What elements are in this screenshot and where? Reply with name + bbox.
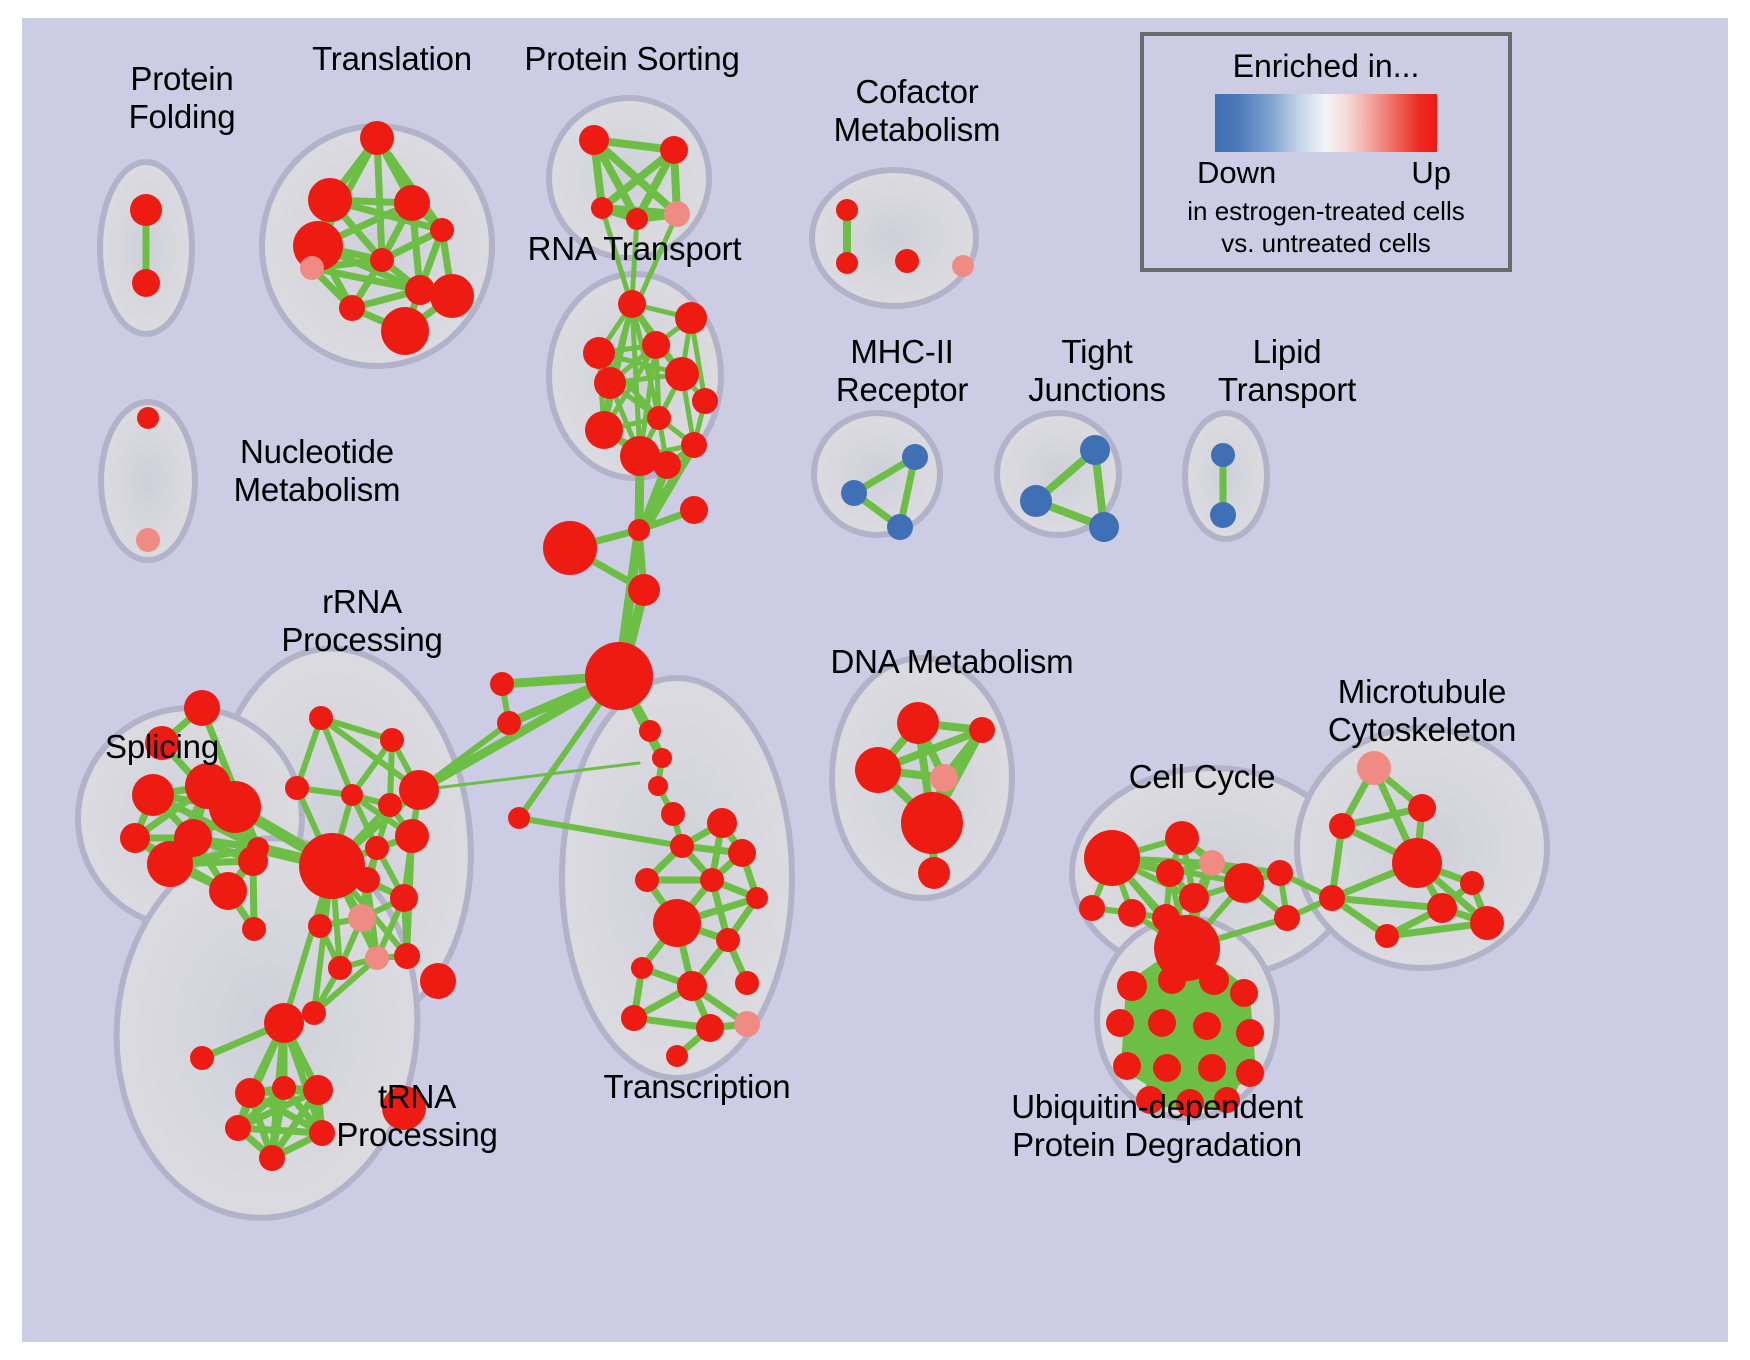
- node: [242, 917, 266, 941]
- node: [1084, 830, 1140, 886]
- node: [887, 514, 913, 540]
- cluster-label-rrna-processing: rRNA Processing: [252, 583, 472, 659]
- node: [639, 720, 661, 742]
- node: [395, 819, 429, 853]
- node: [677, 971, 707, 1001]
- node: [497, 711, 521, 735]
- node: [895, 249, 919, 273]
- node: [1179, 883, 1209, 913]
- node: [666, 1045, 688, 1067]
- node: [897, 702, 939, 744]
- node: [299, 833, 365, 899]
- legend-title: Enriched in...: [1144, 48, 1508, 84]
- cluster-label-translation: Translation: [277, 40, 507, 78]
- node: [648, 776, 668, 796]
- hull-cofactor-metabolism: [812, 170, 976, 306]
- node: [647, 406, 671, 430]
- cluster-label-ubiquitin: Ubiquitin-dependent Protein Degradation: [977, 1088, 1337, 1164]
- node: [1080, 435, 1110, 465]
- cluster-label-microtubule: Microtubule Cytoskeleton: [1297, 673, 1547, 749]
- legend-color-bar: [1215, 94, 1437, 152]
- node: [132, 774, 174, 816]
- node: [1470, 906, 1504, 940]
- legend-caption-line1: in estrogen-treated cells: [1144, 196, 1508, 226]
- node: [692, 388, 718, 414]
- node: [594, 367, 626, 399]
- node: [626, 208, 648, 230]
- node: [855, 747, 901, 793]
- node: [147, 841, 193, 887]
- node: [665, 357, 699, 391]
- legend-low-label: Down: [1197, 154, 1276, 192]
- node: [136, 528, 160, 552]
- node: [430, 218, 454, 242]
- cluster-label-cofactor-metabolism: Cofactor Metabolism: [792, 73, 1042, 149]
- node: [184, 690, 220, 726]
- node: [642, 331, 670, 359]
- node: [225, 1115, 251, 1141]
- cluster-label-lipid-transport: Lipid Transport: [1187, 333, 1387, 409]
- node: [399, 770, 439, 810]
- node: [365, 836, 389, 860]
- cluster-label-mhc-ii-receptor: MHC-II Receptor: [797, 333, 1007, 409]
- node: [621, 1005, 647, 1031]
- node: [1375, 924, 1399, 948]
- node: [583, 337, 615, 369]
- node: [660, 136, 688, 164]
- node: [132, 269, 160, 297]
- node: [969, 717, 995, 743]
- node: [370, 248, 394, 272]
- node: [130, 194, 162, 226]
- node: [394, 943, 420, 969]
- node: [1230, 979, 1258, 1007]
- node: [716, 928, 740, 952]
- node: [591, 197, 613, 219]
- node: [670, 834, 694, 858]
- node: [1118, 899, 1146, 927]
- cluster-label-protein-folding: Protein Folding: [82, 60, 282, 136]
- cluster-label-cell-cycle: Cell Cycle: [1097, 758, 1307, 796]
- node: [209, 781, 261, 833]
- node: [675, 302, 707, 334]
- node: [354, 867, 380, 893]
- node: [543, 521, 597, 575]
- node: [1158, 966, 1186, 994]
- node: [1408, 794, 1436, 822]
- node: [1319, 885, 1345, 911]
- node: [508, 807, 530, 829]
- node: [285, 776, 309, 800]
- node: [328, 956, 352, 980]
- node: [360, 121, 394, 155]
- node: [1329, 813, 1355, 839]
- node: [302, 1001, 326, 1025]
- node: [1198, 1054, 1226, 1082]
- node: [420, 963, 456, 999]
- node: [1106, 1009, 1134, 1037]
- node: [1236, 1019, 1264, 1047]
- node: [901, 792, 963, 854]
- node: [300, 256, 324, 280]
- node: [930, 764, 958, 792]
- legend-endpoints: Down Up: [1195, 154, 1457, 194]
- node: [308, 178, 352, 222]
- node: [348, 904, 376, 932]
- node: [635, 868, 659, 892]
- node: [1193, 1012, 1221, 1040]
- node: [1460, 871, 1484, 895]
- node: [235, 1078, 265, 1108]
- figure-root: Protein Folding Translation Protein Sort…: [0, 0, 1750, 1360]
- node: [952, 255, 974, 277]
- node: [1357, 751, 1391, 785]
- node: [836, 199, 858, 221]
- node: [1165, 821, 1199, 855]
- node: [137, 407, 159, 429]
- node: [380, 728, 404, 752]
- node: [631, 957, 653, 979]
- node: [653, 451, 681, 479]
- node: [1427, 893, 1457, 923]
- node: [309, 706, 333, 730]
- node: [618, 290, 646, 318]
- node: [1113, 1052, 1141, 1080]
- node: [1392, 838, 1442, 888]
- hull-mhc-ii-receptor: [814, 413, 940, 535]
- cluster-label-tight-junctions: Tight Junctions: [997, 333, 1197, 409]
- node: [390, 884, 418, 912]
- node: [1199, 965, 1229, 995]
- node: [381, 307, 429, 355]
- node: [1153, 1054, 1181, 1082]
- node: [836, 252, 858, 274]
- cluster-label-dna-metabolism: DNA Metabolism: [812, 643, 1092, 681]
- node: [585, 411, 623, 449]
- node: [681, 432, 707, 458]
- legend-box: Enriched in... Down Up in estrogen-treat…: [1140, 32, 1512, 272]
- node: [247, 837, 269, 859]
- cluster-label-nucleotide-metabolism: Nucleotide Metabolism: [192, 433, 442, 509]
- node: [1236, 1059, 1264, 1087]
- node: [1020, 485, 1052, 517]
- node: [918, 857, 950, 889]
- node: [365, 946, 389, 970]
- node: [1210, 502, 1236, 528]
- node: [378, 793, 402, 817]
- node: [1089, 512, 1119, 542]
- node: [259, 1145, 285, 1171]
- cluster-label-rna-transport: RNA Transport: [502, 230, 767, 268]
- node: [394, 185, 430, 221]
- node: [1267, 860, 1293, 886]
- node: [120, 823, 150, 853]
- node: [1224, 863, 1264, 903]
- node: [264, 1003, 304, 1043]
- node: [734, 1011, 760, 1037]
- node: [1079, 895, 1105, 921]
- node: [1211, 443, 1235, 467]
- node: [653, 899, 701, 947]
- cluster-label-protein-sorting: Protein Sorting: [492, 40, 772, 78]
- node: [735, 971, 759, 995]
- cluster-label-trna-processing: tRNA Processing: [312, 1078, 522, 1154]
- node: [728, 839, 756, 867]
- node: [1117, 971, 1147, 1001]
- node: [652, 748, 672, 768]
- node: [585, 642, 653, 710]
- legend-caption-line2: vs. untreated cells: [1144, 228, 1508, 258]
- node: [680, 496, 708, 524]
- legend-high-label: Up: [1411, 154, 1451, 192]
- node: [902, 444, 928, 470]
- node: [579, 125, 609, 155]
- cluster-label-splicing: Splicing: [67, 728, 257, 766]
- node: [339, 295, 365, 321]
- node: [308, 914, 332, 938]
- node: [628, 574, 660, 606]
- node: [628, 519, 650, 541]
- node: [209, 872, 247, 910]
- node: [700, 868, 724, 892]
- node: [707, 808, 737, 838]
- cluster-label-transcription: Transcription: [572, 1068, 822, 1106]
- node: [661, 802, 685, 826]
- node: [430, 274, 474, 318]
- node: [490, 672, 514, 696]
- node: [1274, 905, 1300, 931]
- node: [841, 480, 867, 506]
- node: [696, 1014, 724, 1042]
- node: [1199, 850, 1225, 876]
- node: [1156, 859, 1184, 887]
- node: [1148, 1009, 1176, 1037]
- node: [746, 887, 768, 909]
- node: [190, 1046, 214, 1070]
- network-canvas: Protein Folding Translation Protein Sort…: [22, 18, 1728, 1342]
- node: [341, 784, 363, 806]
- node: [272, 1076, 296, 1100]
- node: [664, 201, 690, 227]
